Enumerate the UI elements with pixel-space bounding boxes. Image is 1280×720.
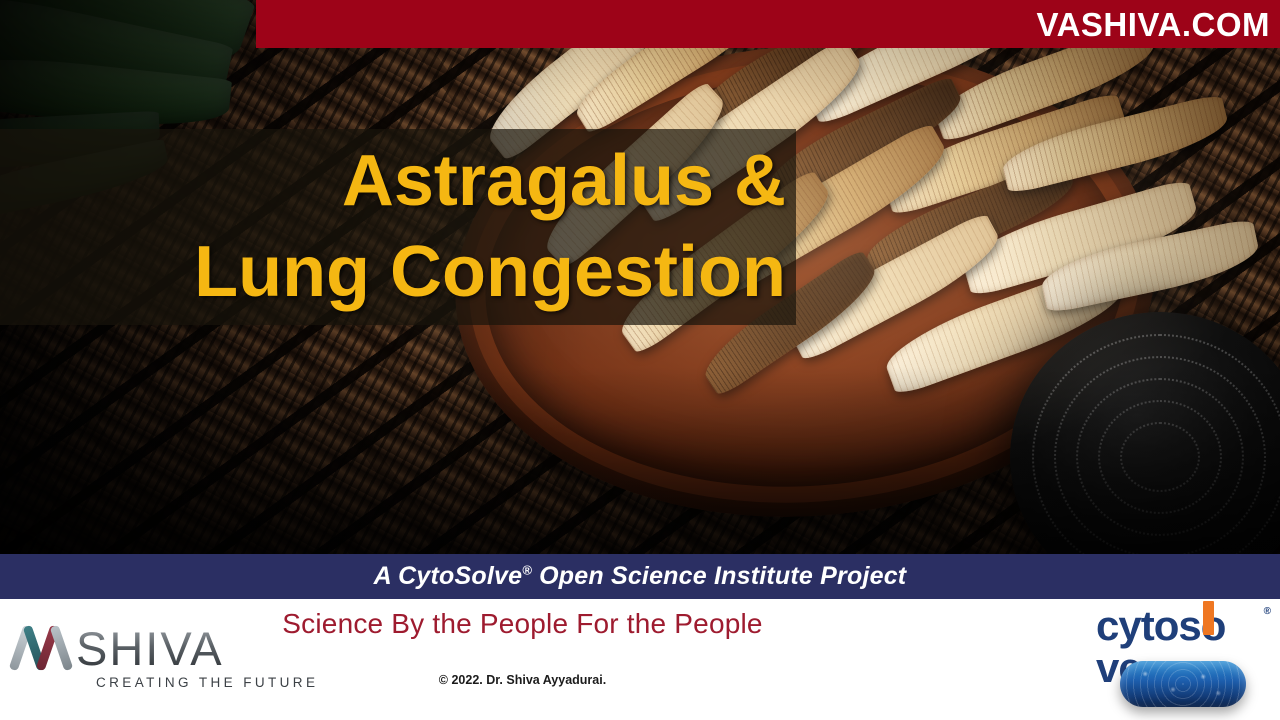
slide: VASHIVA.COM Astragalus & Lung Congestion… — [0, 0, 1280, 720]
top-brand-banner: VASHIVA.COM — [256, 0, 1280, 48]
cytosolve-accent-stroke — [1203, 601, 1214, 635]
cytosolve-logo[interactable]: cytoso ve ® — [1096, 605, 1270, 717]
title-line-2: Lung Congestion — [194, 227, 786, 318]
cytosolve-wordmark: cytoso ve ® — [1096, 605, 1270, 651]
copyright-notice: © 2022. Dr. Shiva Ayyadurai. — [0, 673, 1045, 687]
footer: SHIVA CREATING THE FUTURE Science By the… — [0, 599, 1280, 720]
registered-trademark-icon: ® — [522, 563, 532, 578]
page-title: Astragalus & Lung Congestion — [0, 129, 796, 325]
project-band-suffix: Open Science Institute Project — [532, 562, 906, 590]
project-band: A CytoSolve® Open Science Institute Proj… — [0, 554, 1280, 599]
project-band-prefix: A CytoSolve — [374, 562, 523, 590]
project-band-text: A CytoSolve® Open Science Institute Proj… — [374, 562, 907, 591]
footer-tagline: Science By the People For the People — [0, 608, 1045, 640]
cytosolve-registered-icon: ® — [1264, 607, 1270, 617]
title-line-1: Astragalus & — [342, 136, 786, 227]
vashiva-com-wordmark[interactable]: VASHIVA.COM — [1037, 8, 1270, 41]
cytosolve-capsule-icon — [1120, 661, 1246, 707]
